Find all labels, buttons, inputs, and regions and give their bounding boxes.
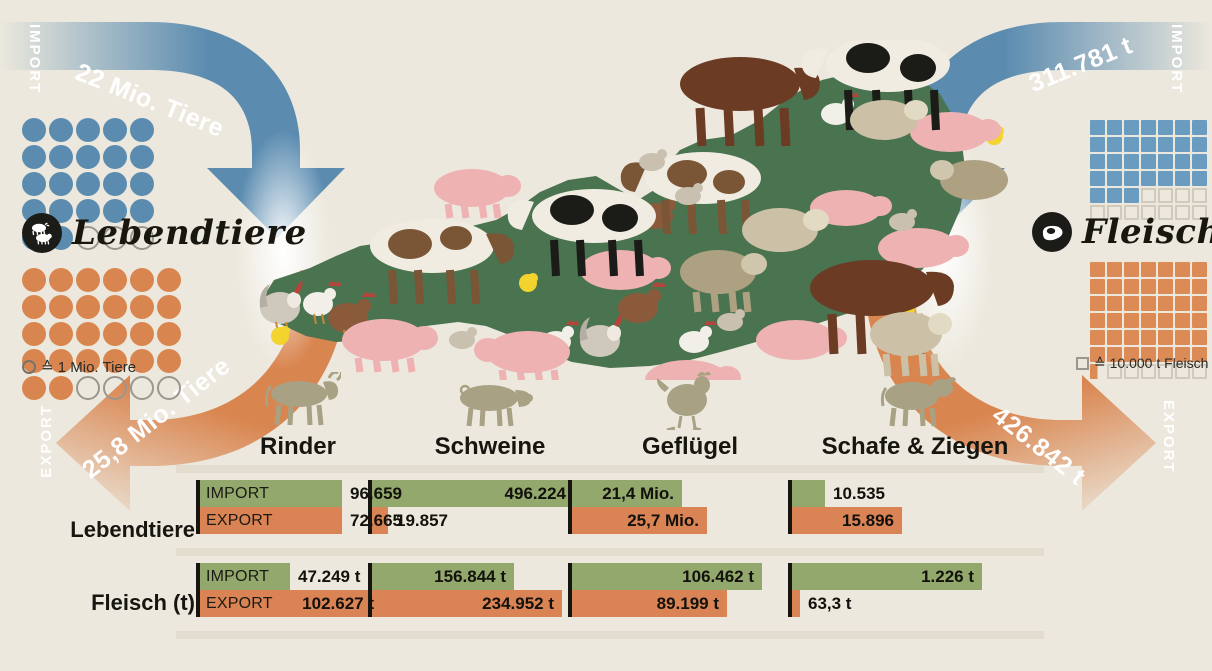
pictogram-unit [130,376,154,400]
bar-fill [792,590,800,617]
pictogram-unit [1090,313,1105,328]
pictogram-unit [22,295,46,319]
pictogram-unit [49,376,73,400]
cow-icon [255,372,341,430]
bar-baseline-tick [788,590,792,617]
category-header-schafe-ziegen: Schafe & Ziegen [820,372,1010,461]
pictogram-unit [1175,188,1190,203]
pictogram-unit [1192,296,1207,311]
pictogram-unit [49,322,73,346]
bar-baseline-tick [196,507,200,534]
category-header-rinder: Rinder [228,372,368,461]
bar-baseline-tick [568,507,572,534]
pictogram-unit [1141,154,1156,169]
bar-caption-export: EXPORT [206,507,273,534]
pictogram-unit [1175,120,1190,135]
pictogram-unit [1124,330,1139,345]
pictogram-unit [1107,137,1122,152]
bar-value-label: 47.249 t [298,563,360,590]
pictogram-unit [1124,137,1139,152]
bar-row: 234.952 t [368,590,598,617]
pictogram-unit [103,145,127,169]
pig-icon [434,169,521,218]
pictogram-unit [157,322,181,346]
arrow-export-live-side-label: EXPORT [38,404,55,478]
pictogram-unit [130,268,154,292]
pictogram-unit [1107,120,1122,135]
pictogram-unit [130,145,154,169]
pictogram-unit [76,376,100,400]
pictogram-unit [103,295,127,319]
bar-baseline-tick [368,563,372,590]
meat-cut-icon [1032,212,1072,252]
pictogram-unit [1175,262,1190,277]
live-animals-title: Lebendtiere [72,213,307,253]
pictogram-unit [1090,279,1105,294]
bar-row: 89.199 t [568,590,798,617]
pictogram-unit [1192,154,1207,169]
bar-row: 106.462 t [568,563,798,590]
pictogram-unit [49,172,73,196]
band-middle [176,548,1044,556]
pictogram-unit [1141,279,1156,294]
pictogram-unit [130,295,154,319]
pictogram-unit [76,145,100,169]
pictogram-unit [1124,120,1139,135]
meat-legend: ≙ 10.000 t Fleisch [1076,355,1208,372]
pictogram-unit [1141,137,1156,152]
bar-value-label: 496.224 [505,480,566,507]
pictogram-unit [1090,171,1105,186]
pictogram-unit [1141,330,1156,345]
duck-icon [449,327,477,349]
pictogram-unit [1090,188,1105,203]
pictogram-unit [157,295,181,319]
pictogram-unit [1192,330,1207,345]
pictogram-unit [1141,262,1156,277]
pictogram-unit [1192,313,1207,328]
pictogram-unit [1124,296,1139,311]
pictogram-unit [22,268,46,292]
bar-value-label: 63,3 t [808,590,851,617]
bar-value-label: 10.535 [833,480,885,507]
pictogram-unit [1090,296,1105,311]
arrow-export-meat-side-label: EXPORT [1160,400,1177,474]
bar-value-label: 21,4 Mio. [602,480,674,507]
pictogram-unit [1175,296,1190,311]
pictogram-unit [130,172,154,196]
infographic-root: IMPORT 22 Mio. Tiere EXPORT 25,8 Mio. Ti… [0,0,1212,671]
bar-group-lebendtiere-schweine: 496.22419.857 [368,480,598,534]
pictogram-unit [1175,137,1190,152]
bar-value-label: 156.844 t [434,563,506,590]
bar-baseline-tick [788,480,792,507]
pictogram-unit [1158,296,1173,311]
bar-value-label: 106.462 t [682,563,754,590]
bar-group-fleischt-schafeziegen: 1.226 t63,3 t [788,563,1018,617]
bar-row: 15.896 [788,507,1018,534]
pictogram-unit [1107,330,1122,345]
live-animals-legend: ≙ 1 Mio. Tiere [22,358,136,376]
pictogram-unit [1158,313,1173,328]
bar-row: 21,4 Mio. [568,480,798,507]
bar-group-lebendtiere-geflgel: 21,4 Mio.25,7 Mio. [568,480,798,534]
category-label-schweine: Schweine [420,433,560,461]
pictogram-unit [1124,262,1139,277]
pictogram-unit [130,118,154,142]
pictogram-unit [76,268,100,292]
band-bottom [176,631,1044,639]
category-header-gefluegel: Geflügel [620,372,760,461]
pictogram-unit [1192,262,1207,277]
pictogram-unit [1175,154,1190,169]
bar-row: 19.857 [368,507,598,534]
pictogram-unit [76,295,100,319]
legend-square-icon [1076,357,1089,370]
pictogram-unit [1090,262,1105,277]
arrow-import-meat-value: 311.781 t [1025,31,1137,99]
bar-row: 63,3 t [788,590,1018,617]
pictogram-unit [1158,120,1173,135]
pictogram-unit [1158,188,1173,203]
chick-icon [271,326,290,345]
bar-caption-import: IMPORT [206,563,269,590]
live-animals-legend-text: ≙ 1 Mio. Tiere [41,358,136,376]
bar-baseline-tick [196,480,200,507]
bar-value-label: 89.199 t [657,590,719,617]
pictogram-unit [157,376,181,400]
pictogram-unit [1141,313,1156,328]
pictogram-unit [103,322,127,346]
pictogram-unit [1107,171,1122,186]
pictogram-unit [1090,154,1105,169]
meat-import-grid [1090,120,1207,220]
austria-map [250,40,1020,380]
live-animals-export-grid [22,268,181,400]
bar-group-fleischt-geflgel: 106.462 t89.199 t [568,563,798,617]
pictogram-unit [22,322,46,346]
bar-baseline-tick [568,590,572,617]
pictogram-unit [49,268,73,292]
pictogram-unit [22,172,46,196]
pictogram-unit [49,145,73,169]
pictogram-unit [22,376,46,400]
row-label-lebendtiere: Lebendtiere [20,517,195,543]
pictogram-unit [1192,279,1207,294]
row-label-fleisch: Fleisch (t) [20,590,195,616]
pictogram-unit [1090,137,1105,152]
band-top [176,465,1044,473]
bar-group-fleischt-schweine: 156.844 t234.952 t [368,563,598,617]
pictogram-unit [1175,313,1190,328]
pictogram-unit [22,118,46,142]
bar-baseline-tick [196,590,200,617]
pictogram-unit [1124,188,1139,203]
category-header-schweine: Schweine [420,372,560,461]
bar-group-lebendtiere-rinder: IMPORT96.659EXPORT72.665 [196,480,426,534]
arrow-import-live-side-label: IMPORT [26,24,43,94]
goat-icon [870,312,952,376]
pictogram-unit [157,268,181,292]
bar-value-label: 234.952 t [482,590,554,617]
bar-caption-import: IMPORT [206,480,269,507]
pictogram-unit [1141,296,1156,311]
pictogram-unit [1107,296,1122,311]
pictogram-unit [1192,171,1207,186]
bar-row: 1.226 t [788,563,1018,590]
pictogram-unit [1158,154,1173,169]
bar-fill [792,480,825,507]
bar-value-label: 1.226 t [921,563,974,590]
pictogram-unit [1192,137,1207,152]
legend-circle-icon [22,360,36,374]
pictogram-unit [1107,279,1122,294]
bar-row: EXPORT72.665 [196,507,426,534]
meat-brand: Fleisch [1032,212,1212,252]
cattle-sheep-icon [22,213,62,253]
bar-baseline-tick [568,480,572,507]
pictogram-unit [1124,154,1139,169]
live-animals-brand: Lebendtiere [22,213,307,253]
pictogram-unit [76,172,100,196]
bar-baseline-tick [788,507,792,534]
bar-value-label: 102.627 t [302,590,374,617]
pictogram-unit [1141,120,1156,135]
pictogram-unit [103,172,127,196]
bar-caption-export: EXPORT [206,590,273,617]
chicken-icon [653,372,727,430]
pictogram-unit [1090,330,1105,345]
pictogram-unit [1158,137,1173,152]
bar-row: IMPORT96.659 [196,480,426,507]
pictogram-unit [130,322,154,346]
pictogram-unit [1158,262,1173,277]
pictogram-unit [1192,188,1207,203]
austria-map-svg [250,40,1020,380]
bar-baseline-tick [196,563,200,590]
category-label-gefluegel: Geflügel [620,433,760,461]
pictogram-unit [1090,120,1105,135]
category-label-schafe-ziegen: Schafe & Ziegen [820,433,1010,461]
pictogram-unit [103,268,127,292]
pictogram-unit [49,118,73,142]
meat-legend-text: ≙ 10.000 t Fleisch [1094,355,1208,372]
bar-value-label: 25,7 Mio. [627,507,699,534]
pig-icon [910,112,1001,152]
pictogram-unit [1124,279,1139,294]
bar-baseline-tick [788,563,792,590]
pictogram-unit [1175,171,1190,186]
bar-row: 25,7 Mio. [568,507,798,534]
pictogram-unit [1107,154,1122,169]
pictogram-unit [1141,188,1156,203]
pictogram-unit [1192,120,1207,135]
arrow-import-meat-side-label: IMPORT [1168,24,1185,94]
bar-row: 496.224 [368,480,598,507]
pictogram-unit [22,145,46,169]
pictogram-unit [1107,313,1122,328]
pictogram-unit [1107,262,1122,277]
pictogram-unit [103,118,127,142]
pictogram-unit [76,118,100,142]
pictogram-unit [1158,279,1173,294]
pictogram-unit [76,322,100,346]
bar-row: 10.535 [788,480,1018,507]
bar-baseline-tick [568,563,572,590]
category-label-rinder: Rinder [228,433,368,461]
bar-value-label: 96.659 [350,480,402,507]
bar-value-label: 19.857 [396,507,448,534]
pictogram-unit [49,295,73,319]
pictogram-unit [1175,279,1190,294]
pictogram-unit [1141,171,1156,186]
bar-value-label: 72.665 [350,507,402,534]
bar-group-lebendtiere-schafeziegen: 10.53515.896 [788,480,1018,534]
meat-title: Fleisch [1082,212,1212,252]
pictogram-unit [1107,188,1122,203]
pictogram-unit [1124,313,1139,328]
pictogram-unit [1158,330,1173,345]
pictogram-unit [1124,171,1139,186]
pig-icon [447,372,533,430]
bar-value-label: 15.896 [842,507,894,534]
pictogram-unit [1158,171,1173,186]
pictogram-unit [1175,330,1190,345]
pictogram-unit [103,376,127,400]
pictogram-unit [157,349,181,373]
bar-row: 156.844 t [368,563,598,590]
sheep-icon [872,372,958,430]
pig-icon [342,319,438,372]
